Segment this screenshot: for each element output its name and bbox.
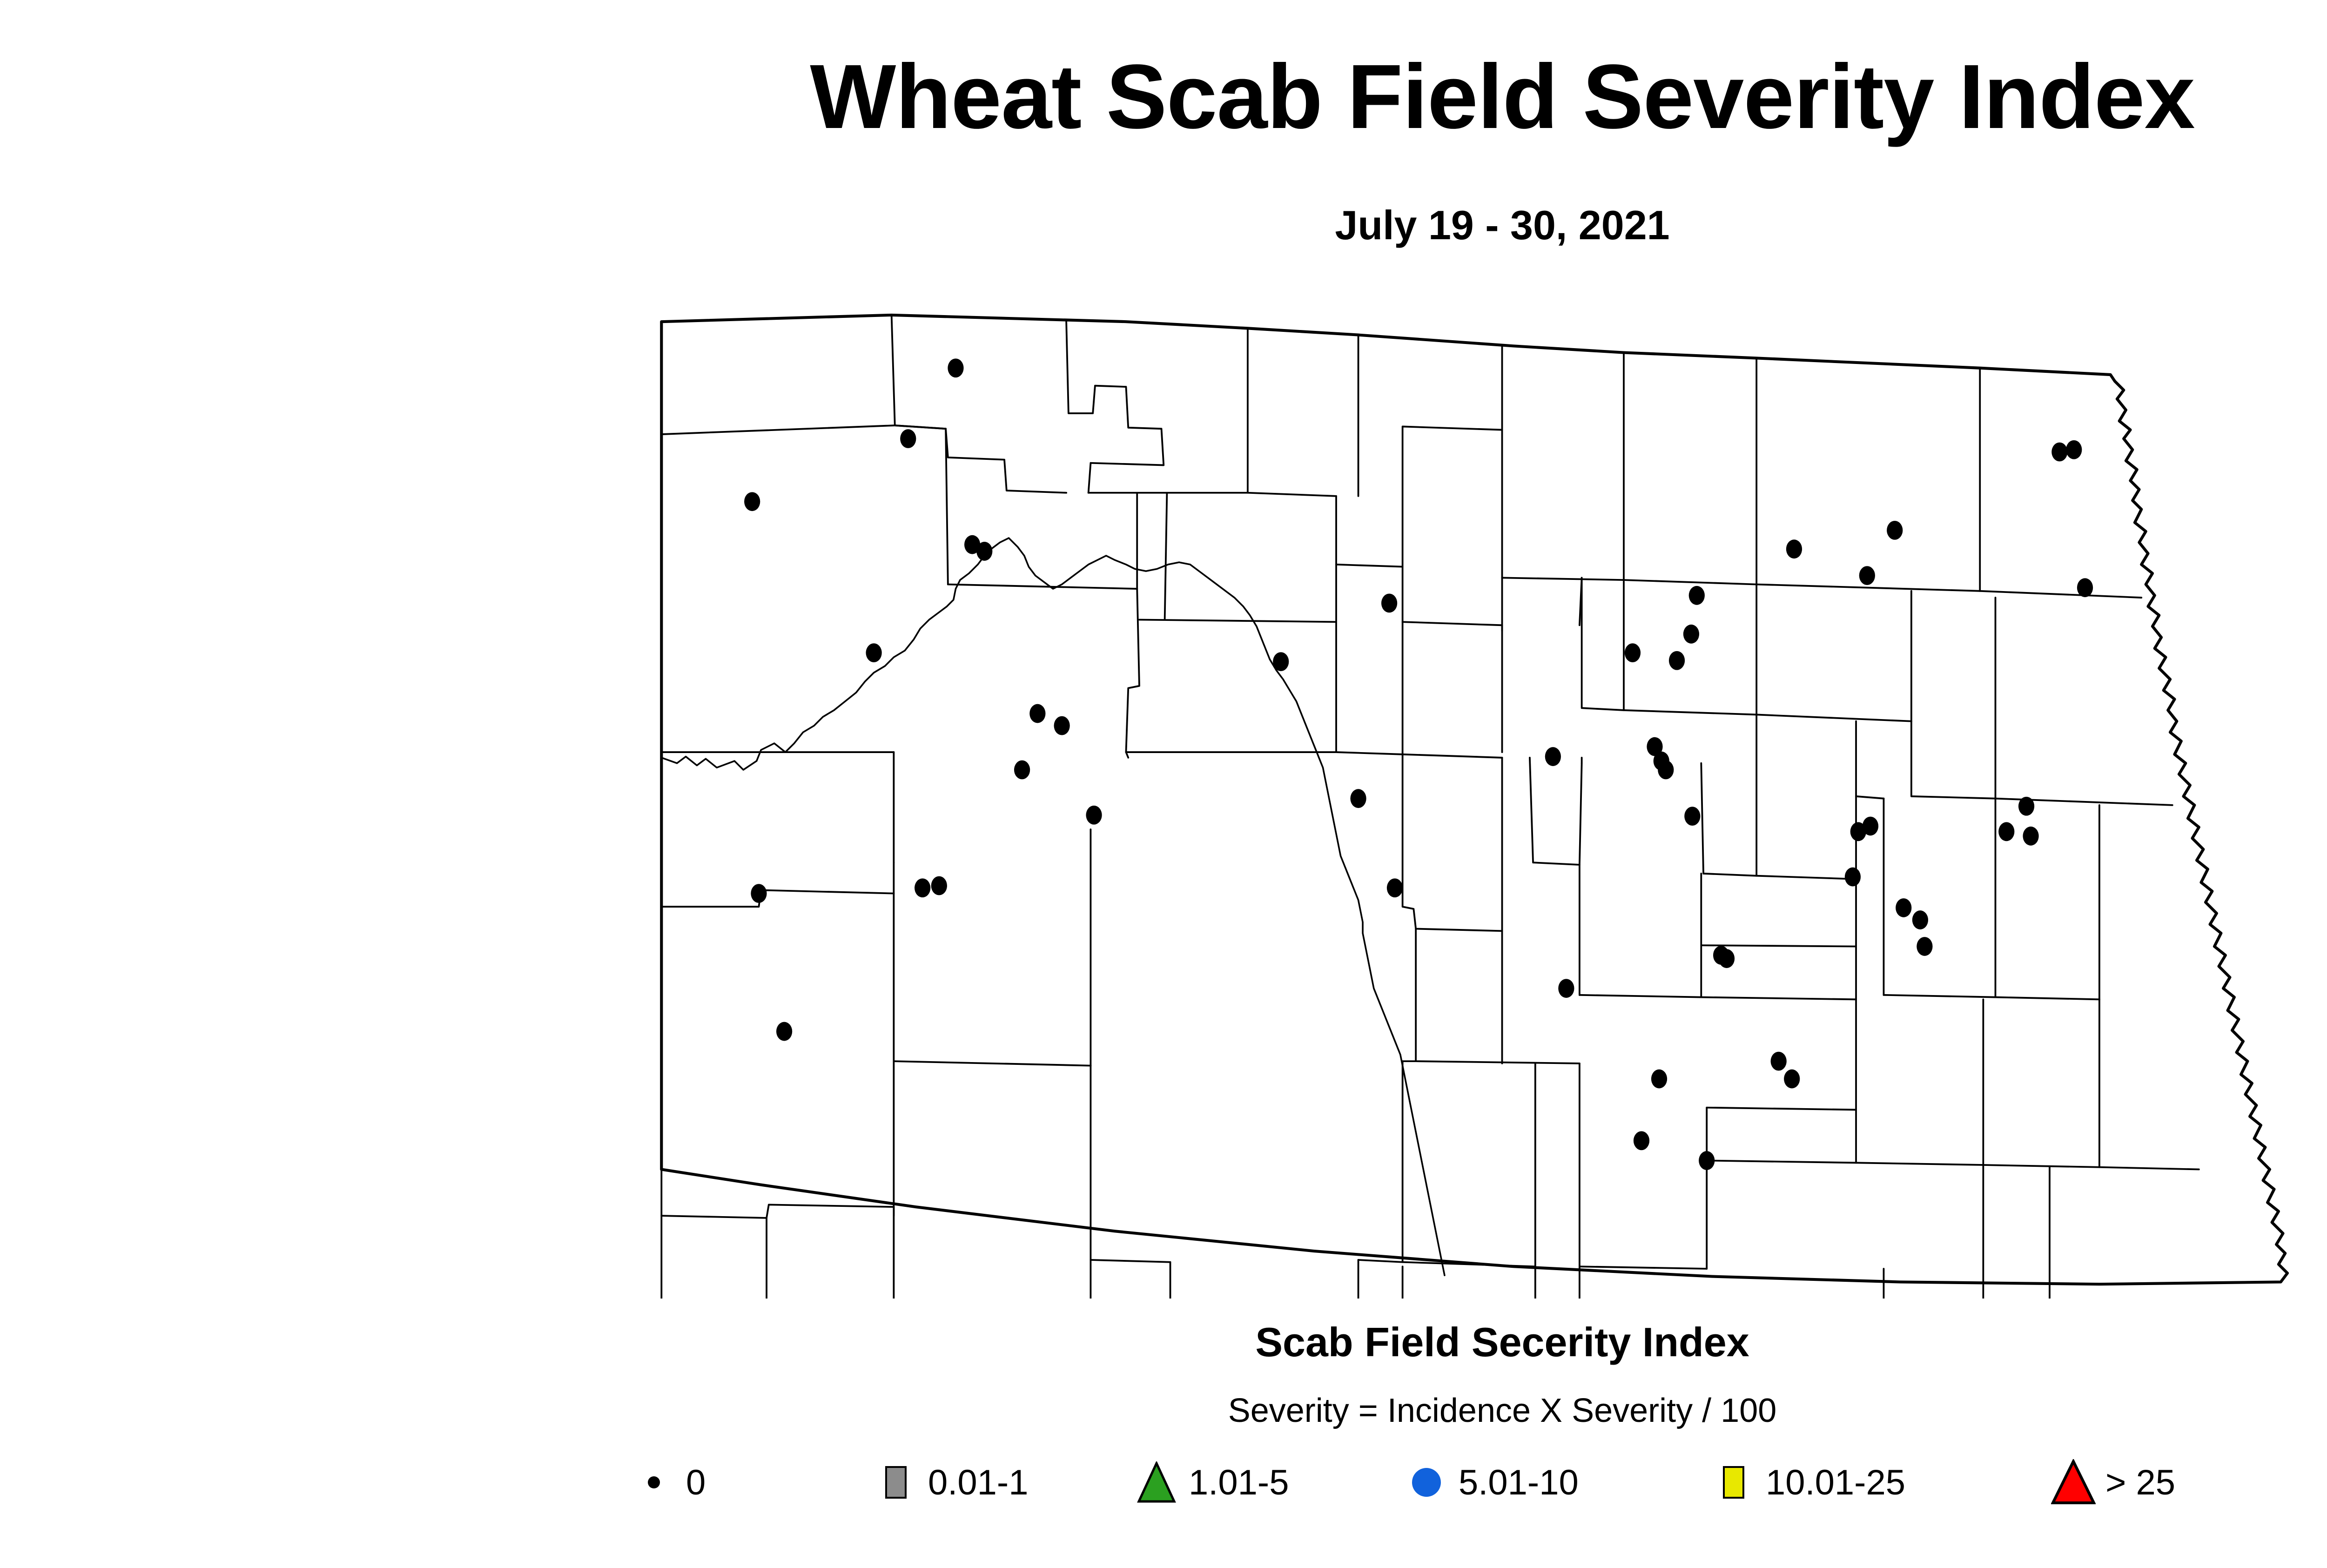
data-point: [2023, 827, 2038, 846]
legend-marker-blue-circle-icon: [1401, 1445, 1452, 1520]
north-dakota-county-map: [628, 289, 2327, 1299]
legend-item-4[interactable]: 10.01-25: [1708, 1443, 1905, 1522]
data-point: [1683, 625, 1699, 644]
legend-item-3[interactable]: 5.01-10: [1401, 1443, 1579, 1522]
legend-formula: Severity = Incidence X Severity / 100: [0, 1394, 2327, 1427]
data-point: [1845, 868, 1861, 887]
legend: 0 0.01-1 1.01-5 5.01-10 10.01-25: [628, 1443, 2327, 1522]
data-point: [1054, 716, 1070, 735]
data-point: [1634, 1131, 1649, 1150]
legend-item-5[interactable]: > 25: [2048, 1443, 2175, 1522]
legend-title: Scab Field Secerity Index: [0, 1322, 2327, 1363]
data-point: [1896, 898, 1911, 917]
data-point: [751, 884, 767, 903]
legend-marker-gray-square-icon: [870, 1445, 921, 1520]
data-point: [948, 358, 963, 377]
chart-title: Wheat Scab Field Severity Index: [0, 51, 2327, 142]
data-point: [1859, 566, 1875, 585]
data-point: [1014, 760, 1030, 780]
legend-marker-green-triangle-icon: [1131, 1445, 1182, 1520]
data-point: [1863, 817, 1878, 836]
data-point: [1887, 521, 1903, 540]
legend-label-3: 5.01-10: [1459, 1462, 1579, 1503]
data-point: [1786, 539, 1802, 559]
data-point-layer: [670, 358, 2253, 1299]
legend-marker-red-triangle-icon: [2048, 1445, 2099, 1520]
figure-root: Wheat Scab Field Severity Index July 19 …: [0, 0, 2327, 1568]
data-point: [1917, 937, 1932, 956]
data-point: [1689, 586, 1705, 605]
legend-label-1: 0.01-1: [928, 1462, 1029, 1503]
data-point: [1029, 704, 1045, 723]
data-point: [1381, 594, 1397, 613]
legend-item-1[interactable]: 0.01-1: [870, 1443, 1029, 1522]
data-point: [866, 643, 881, 662]
data-point: [1912, 910, 1928, 929]
data-point: [1658, 760, 1674, 780]
data-point: [776, 1022, 792, 1041]
data-point: [1350, 789, 1366, 808]
data-point: [1669, 651, 1685, 670]
lake-sakakawea: [661, 538, 1445, 1275]
data-point: [1784, 1070, 1800, 1089]
data-point: [1086, 806, 1102, 825]
data-point: [1998, 822, 2014, 841]
legend-marker-small-black-dot-icon: [628, 1445, 679, 1520]
data-point: [1273, 652, 1289, 671]
legend-label-2: 1.01-5: [1189, 1462, 1289, 1503]
data-point: [1625, 643, 1641, 662]
data-point: [1387, 878, 1403, 897]
data-point: [931, 876, 947, 895]
data-point: [915, 878, 930, 897]
data-point: [2018, 797, 2034, 816]
data-point: [744, 492, 760, 511]
data-point: [1558, 979, 1574, 998]
data-point: [1684, 807, 1700, 826]
legend-label-0: 0: [686, 1462, 706, 1503]
data-point: [1771, 1052, 1787, 1071]
data-point: [2066, 440, 2082, 459]
data-point: [1651, 1070, 1667, 1089]
legend-label-5: > 25: [2105, 1462, 2175, 1503]
legend-marker-yellow-square-icon: [1708, 1445, 1759, 1520]
data-point: [2077, 578, 2093, 597]
data-point: [900, 429, 916, 448]
data-point: [1719, 949, 1735, 968]
data-point: [976, 542, 992, 561]
data-point: [1699, 1151, 1715, 1170]
chart-subtitle: July 19 - 30, 2021: [0, 205, 2327, 246]
legend-label-4: 10.01-25: [1766, 1462, 1905, 1503]
data-point: [1545, 747, 1561, 766]
data-point: [2051, 443, 2067, 462]
legend-item-2[interactable]: 1.01-5: [1131, 1443, 1289, 1522]
legend-item-0[interactable]: 0: [628, 1443, 706, 1522]
